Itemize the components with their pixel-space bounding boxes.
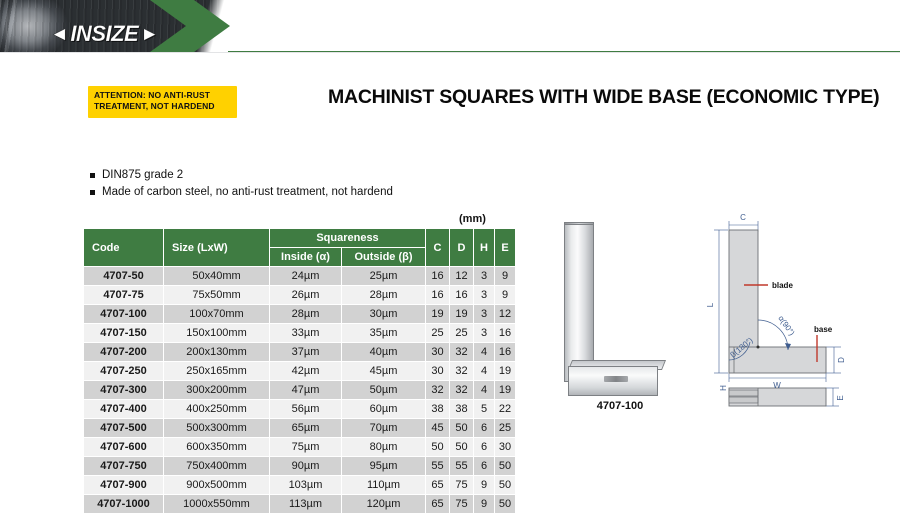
cell-size: 750x400mm <box>164 457 270 476</box>
cell-d: 50 <box>450 438 474 457</box>
cell-d: 19 <box>450 305 474 324</box>
cell-d: 38 <box>450 400 474 419</box>
cell-outside: 50µm <box>342 381 426 400</box>
cell-inside: 47µm <box>270 381 342 400</box>
cell-outside: 28µm <box>342 286 426 305</box>
cell-h: 4 <box>474 381 495 400</box>
table-row: 4707-400400x250mm56µm60µm3838522 <box>84 400 516 419</box>
dim-label-l: L <box>706 302 715 307</box>
cell-inside: 28µm <box>270 305 342 324</box>
cell-c: 30 <box>426 343 450 362</box>
cell-inside: 65µm <box>270 419 342 438</box>
cell-h: 6 <box>474 438 495 457</box>
cell-inside: 33µm <box>270 324 342 343</box>
cell-e: 22 <box>495 400 516 419</box>
col-header-c: C <box>426 229 450 267</box>
cell-size: 200x130mm <box>164 343 270 362</box>
cell-h: 3 <box>474 267 495 286</box>
col-header-squareness: Squareness <box>270 229 426 248</box>
cell-d: 16 <box>450 286 474 305</box>
cell-code: 4707-500 <box>84 419 164 438</box>
arrow-left-icon: ◄ <box>50 25 68 44</box>
cell-d: 55 <box>450 457 474 476</box>
col-header-d: D <box>450 229 474 267</box>
cell-outside: 60µm <box>342 400 426 419</box>
diagram-bottom-slot-1 <box>729 390 758 396</box>
cell-c: 25 <box>426 324 450 343</box>
cell-d: 12 <box>450 267 474 286</box>
attention-badge: ATTENTION: NO ANTI-RUST TREATMENT, NOT H… <box>88 86 237 118</box>
col-header-size: Size (LxW) <box>164 229 270 267</box>
cell-outside: 70µm <box>342 419 426 438</box>
cell-outside: 95µm <box>342 457 426 476</box>
cell-d: 32 <box>450 343 474 362</box>
cell-code: 4707-250 <box>84 362 164 381</box>
table-row: 4707-900900x500mm103µm110µm6575950 <box>84 476 516 495</box>
cell-d: 32 <box>450 381 474 400</box>
cell-size: 250x165mm <box>164 362 270 381</box>
dim-label-e: E <box>836 395 845 400</box>
cell-e: 50 <box>495 457 516 476</box>
cell-inside: 24µm <box>270 267 342 286</box>
cell-code: 4707-200 <box>84 343 164 362</box>
arrow-right-icon: ► <box>140 25 158 44</box>
cell-d: 25 <box>450 324 474 343</box>
page-title: MACHINIST SQUARES WITH WIDE BASE (ECONOM… <box>328 86 888 109</box>
cell-h: 4 <box>474 343 495 362</box>
cell-e: 19 <box>495 362 516 381</box>
cell-h: 5 <box>474 400 495 419</box>
table-row: 4707-250250x165mm42µm45µm3032419 <box>84 362 516 381</box>
base-label: base <box>814 325 833 334</box>
cell-inside: 103µm <box>270 476 342 495</box>
table-unit-note: (mm) <box>459 213 486 225</box>
dim-label-c: C <box>740 213 746 222</box>
alpha-angle-label: α(90°) <box>776 314 796 338</box>
cell-outside: 35µm <box>342 324 426 343</box>
insize-logo: ◄INSIZE► <box>50 21 159 47</box>
table-row: 4707-300300x200mm47µm50µm3232419 <box>84 381 516 400</box>
cell-e: 50 <box>495 495 516 514</box>
cell-c: 45 <box>426 419 450 438</box>
cell-c: 19 <box>426 305 450 324</box>
dim-label-h: H <box>719 385 728 391</box>
cell-d: 75 <box>450 476 474 495</box>
cell-e: 16 <box>495 343 516 362</box>
spec-bullet-list: DIN875 grade 2 Made of carbon steel, no … <box>90 167 393 202</box>
col-header-outside: Outside (β) <box>342 248 426 267</box>
list-item: Made of carbon steel, no anti-rust treat… <box>90 184 393 201</box>
cell-code: 4707-750 <box>84 457 164 476</box>
col-header-h: H <box>474 229 495 267</box>
page-header-banner: ◄INSIZE► <box>0 0 900 58</box>
cell-outside: 30µm <box>342 305 426 324</box>
table-row: 4707-750750x400mm90µm95µm5555650 <box>84 457 516 476</box>
cell-size: 100x70mm <box>164 305 270 324</box>
cell-e: 30 <box>495 438 516 457</box>
cell-h: 6 <box>474 419 495 438</box>
cell-c: 65 <box>426 495 450 514</box>
cell-outside: 45µm <box>342 362 426 381</box>
cell-inside: 42µm <box>270 362 342 381</box>
cell-size: 75x50mm <box>164 286 270 305</box>
cell-h: 4 <box>474 362 495 381</box>
cell-e: 16 <box>495 324 516 343</box>
cell-code: 4707-50 <box>84 267 164 286</box>
cell-h: 9 <box>474 495 495 514</box>
cell-c: 65 <box>426 476 450 495</box>
cell-c: 16 <box>426 286 450 305</box>
header-gray-rule <box>0 52 900 53</box>
cell-inside: 90µm <box>270 457 342 476</box>
cell-outside: 80µm <box>342 438 426 457</box>
cell-e: 9 <box>495 267 516 286</box>
cell-size: 1000x550mm <box>164 495 270 514</box>
cell-code: 4707-600 <box>84 438 164 457</box>
cell-size: 900x500mm <box>164 476 270 495</box>
cell-inside: 75µm <box>270 438 342 457</box>
cell-h: 6 <box>474 457 495 476</box>
dim-label-w: W <box>773 381 781 390</box>
diagram-svg: C L W D H E blade base α(90°) β(180°) <box>700 210 900 410</box>
table-body: 4707-5050x40mm24µm25µm1612394707-7575x50… <box>84 267 516 514</box>
cell-size: 300x200mm <box>164 381 270 400</box>
list-item: DIN875 grade 2 <box>90 167 393 184</box>
cell-outside: 120µm <box>342 495 426 514</box>
cell-h: 3 <box>474 305 495 324</box>
blade-label: blade <box>772 281 793 290</box>
cell-code: 4707-100 <box>84 305 164 324</box>
cell-code: 4707-400 <box>84 400 164 419</box>
cell-h: 9 <box>474 476 495 495</box>
product-photo: 4707-100 <box>540 218 720 418</box>
attention-line-1: ATTENTION: NO ANTI-RUST <box>94 90 232 101</box>
col-header-e: E <box>495 229 516 267</box>
cell-e: 9 <box>495 286 516 305</box>
cell-code: 4707-150 <box>84 324 164 343</box>
cell-size: 500x300mm <box>164 419 270 438</box>
cell-inside: 56µm <box>270 400 342 419</box>
cell-h: 3 <box>474 286 495 305</box>
cell-size: 150x100mm <box>164 324 270 343</box>
blade-body <box>564 224 594 382</box>
cell-e: 25 <box>495 419 516 438</box>
cell-size: 400x250mm <box>164 400 270 419</box>
cell-code: 4707-900 <box>84 476 164 495</box>
specification-table: Code Size (LxW) Squareness C D H E Insid… <box>83 228 515 514</box>
table-row: 4707-5050x40mm24µm25µm161239 <box>84 267 516 286</box>
cell-code: 4707-300 <box>84 381 164 400</box>
table-row: 4707-200200x130mm37µm40µm3032416 <box>84 343 516 362</box>
cell-e: 19 <box>495 381 516 400</box>
diagram-bottom-slot-2 <box>729 397 758 403</box>
cell-inside: 37µm <box>270 343 342 362</box>
table-row: 4707-10001000x550mm113µm120µm6575950 <box>84 495 516 514</box>
cell-e: 12 <box>495 305 516 324</box>
cell-c: 55 <box>426 457 450 476</box>
diagram-blade <box>729 230 758 350</box>
cell-e: 50 <box>495 476 516 495</box>
cell-code: 4707-1000 <box>84 495 164 514</box>
diagram-corner-point <box>757 346 760 349</box>
table-row: 4707-150150x100mm33µm35µm2525316 <box>84 324 516 343</box>
cell-h: 3 <box>474 324 495 343</box>
cell-inside: 26µm <box>270 286 342 305</box>
table-row: 4707-600600x350mm75µm80µm5050630 <box>84 438 516 457</box>
technical-diagram: C L W D H E blade base α(90°) β(180°) <box>700 210 900 410</box>
table-row: 4707-100100x70mm28µm30µm1919312 <box>84 305 516 324</box>
cell-d: 50 <box>450 419 474 438</box>
product-caption: 4707-100 <box>540 400 700 412</box>
brand-name: INSIZE <box>70 21 138 47</box>
attention-line-2: TREATMENT, NOT HARDEND <box>94 101 232 112</box>
cell-d: 32 <box>450 362 474 381</box>
table-row: 4707-7575x50mm26µm28µm161639 <box>84 286 516 305</box>
col-header-inside: Inside (α) <box>270 248 342 267</box>
cell-outside: 25µm <box>342 267 426 286</box>
cell-inside: 113µm <box>270 495 342 514</box>
cell-size: 50x40mm <box>164 267 270 286</box>
cell-c: 30 <box>426 362 450 381</box>
table-header-row-1: Code Size (LxW) Squareness C D H E <box>84 229 516 248</box>
cell-outside: 40µm <box>342 343 426 362</box>
dim-label-d: D <box>837 357 846 363</box>
table-row: 4707-500500x300mm65µm70µm4550625 <box>84 419 516 438</box>
col-header-code: Code <box>84 229 164 267</box>
cell-size: 600x350mm <box>164 438 270 457</box>
cell-c: 50 <box>426 438 450 457</box>
cell-c: 32 <box>426 381 450 400</box>
cell-c: 38 <box>426 400 450 419</box>
cell-code: 4707-75 <box>84 286 164 305</box>
engraved-logo-icon <box>604 376 628 382</box>
cell-d: 75 <box>450 495 474 514</box>
cell-c: 16 <box>426 267 450 286</box>
cell-outside: 110µm <box>342 476 426 495</box>
